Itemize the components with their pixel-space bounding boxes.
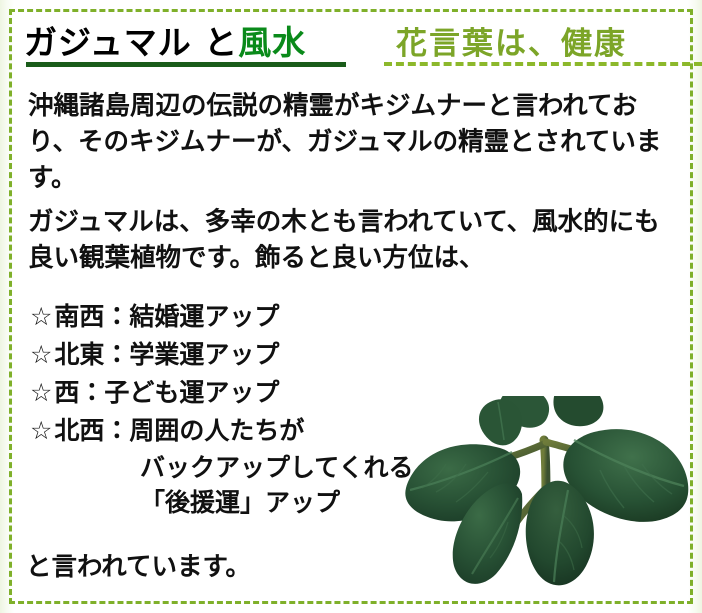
flower-language-title: 花言葉は、健康 xyxy=(396,18,627,63)
page-title-accent: 風水 xyxy=(238,23,306,62)
list-item: ☆南西：結婚運アップ xyxy=(30,298,500,336)
card-content: ガジュマル と風水 花言葉は、健康 沖縄諸島周辺の伝説の精霊がキジムナーと言われ… xyxy=(0,0,702,613)
closing-line: と言われています。 xyxy=(26,546,251,583)
list-item-label: 北東：学業運アップ xyxy=(54,340,279,369)
list-item-label: 南西：結婚運アップ xyxy=(54,302,279,331)
list-item: ☆北東：学業運アップ xyxy=(30,336,500,374)
list-item-label: 西：子ども運アップ xyxy=(54,378,279,407)
list-item-label: 北西：周囲の人たちが xyxy=(54,416,304,445)
page-title-plain: ガジュマル と xyxy=(24,23,238,62)
star-icon: ☆ xyxy=(30,378,52,407)
flower-language-dashed-underline xyxy=(384,62,702,66)
star-icon: ☆ xyxy=(30,416,52,445)
star-icon: ☆ xyxy=(30,340,52,369)
star-icon: ☆ xyxy=(30,302,52,331)
title-underline xyxy=(26,62,346,67)
page-title: ガジュマル と風水 xyxy=(24,16,306,64)
paragraph-fengshui: ガジュマルは、多幸の木とも言われていて、風水的にも良い観葉植物です。飾ると良い方… xyxy=(28,204,676,276)
paragraph-legend: 沖縄諸島周辺の伝説の精霊がキジムナーと言われており、そのキジムナーが、ガジュマル… xyxy=(28,88,676,196)
header: ガジュマル と風水 花言葉は、健康 xyxy=(24,16,678,78)
infographic-card: ガジュマル と風水 花言葉は、健康 沖縄諸島周辺の伝説の精霊がキジムナーと言われ… xyxy=(0,0,702,613)
gajumaru-plant-image xyxy=(396,396,696,596)
